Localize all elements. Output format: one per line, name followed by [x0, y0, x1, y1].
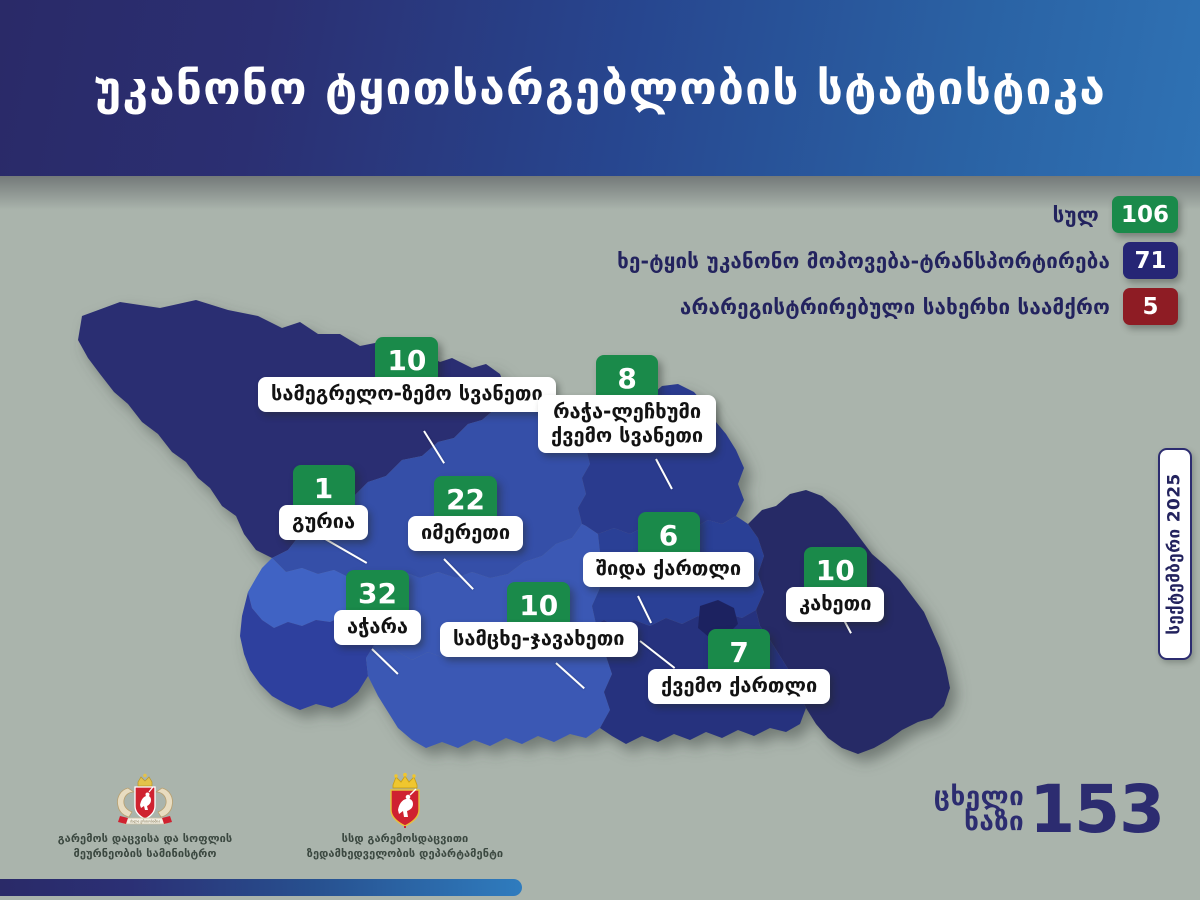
bottom-accent-bar — [0, 879, 522, 896]
department-emblem-caption: სსდ გარემოსდაცვითი ზედამხედველობის დეპარ… — [307, 832, 503, 862]
svg-text:ძალა ერთობაშია: ძალა ერთობაშია — [130, 820, 160, 824]
date-badge-label: სექტემბერი 2025 — [1165, 473, 1185, 634]
legend-chip-unregistered-sawmill: 5 — [1123, 288, 1178, 325]
hotline-words: ცხელი ხაზი — [934, 785, 1024, 836]
legend: სულ 106 ხე-ტყის უკანონო მოპოვება-ტრანსპო… — [617, 196, 1178, 325]
marker-adjara[interactable]: 32 აჭარა — [334, 570, 421, 645]
legend-label-illegal-logging-transport: ხე-ტყის უკანონო მოპოვება-ტრანსპორტირება — [617, 249, 1110, 273]
legend-chip-total: 106 — [1112, 196, 1178, 233]
page-title: უკანონო ტყითსარგებლობის სტატისტიკა — [94, 63, 1106, 114]
marker-guria[interactable]: 1 გურია — [279, 465, 368, 540]
marker-label-adjara: აჭარა — [334, 610, 421, 645]
marker-label-imereti: იმერეთი — [408, 516, 523, 551]
legend-row-illegal-logging-transport: ხე-ტყის უკანონო მოპოვება-ტრანსპორტირება … — [617, 242, 1178, 279]
legend-row-total: სულ 106 — [1053, 196, 1178, 233]
marker-label-guria: გურია — [279, 505, 368, 540]
legend-label-total: სულ — [1053, 203, 1099, 227]
hotline-line2: ხაზი — [964, 810, 1024, 835]
marker-label-samegrelo-zemo-svaneti: სამეგრელო-ზემო სვანეთი — [258, 377, 556, 412]
marker-label-racha-lechkhumi-kvemo-svaneti: რაჭა-ლეჩხუმი ქვემო სვანეთი — [538, 395, 716, 453]
marker-kakheti[interactable]: 10 კახეთი — [786, 547, 884, 622]
marker-racha-lechkhumi-kvemo-svaneti[interactable]: 8 რაჭა-ლეჩხუმი ქვემო სვანეთი — [538, 355, 716, 453]
marker-samegrelo-zemo-svaneti[interactable]: 10 სამეგრელო-ზემო სვანეთი — [258, 337, 556, 412]
date-badge: სექტემბერი 2025 — [1158, 448, 1192, 660]
ministry-emblem-icon: ძალა ერთობაშია — [110, 772, 180, 828]
hotline-block: ცხელი ხაზი 153 — [934, 782, 1164, 838]
marker-label-samtskhe-javakheti: სამცხე-ჯავახეთი — [440, 622, 638, 657]
ministry-emblem-caption: გარემოს დაცვისა და სოფლის მეურნეობის სამ… — [58, 832, 233, 862]
department-emblem-icon — [378, 772, 432, 828]
legend-chip-illegal-logging-transport: 71 — [1123, 242, 1178, 279]
footer-emblems: ძალა ერთობაშია გარემოს დაცვისა და სოფლის… — [0, 772, 560, 872]
marker-samtskhe-javakheti[interactable]: 10 სამცხე-ჯავახეთი — [440, 582, 638, 657]
marker-label-kakheti: კახეთი — [786, 587, 884, 622]
department-emblem-block: სსდ გარემოსდაცვითი ზედამხედველობის დეპარ… — [280, 772, 530, 872]
ministry-emblem-block: ძალა ერთობაშია გარემოს დაცვისა და სოფლის… — [10, 772, 280, 872]
hotline-number: 153 — [1029, 782, 1164, 838]
legend-label-unregistered-sawmill: არარეგისტრირებული სახერხი საამქრო — [680, 295, 1110, 319]
marker-kvemo-kartli[interactable]: 7 ქვემო ქართლი — [648, 629, 830, 704]
legend-row-unregistered-sawmill: არარეგისტრირებული სახერხი საამქრო 5 — [680, 288, 1178, 325]
marker-imereti[interactable]: 22 იმერეთი — [408, 476, 523, 551]
header-banner: უკანონო ტყითსარგებლობის სტატისტიკა — [0, 0, 1200, 176]
marker-label-kvemo-kartli: ქვემო ქართლი — [648, 669, 830, 704]
marker-shida-kartli[interactable]: 6 შიდა ქართლი — [583, 512, 754, 587]
